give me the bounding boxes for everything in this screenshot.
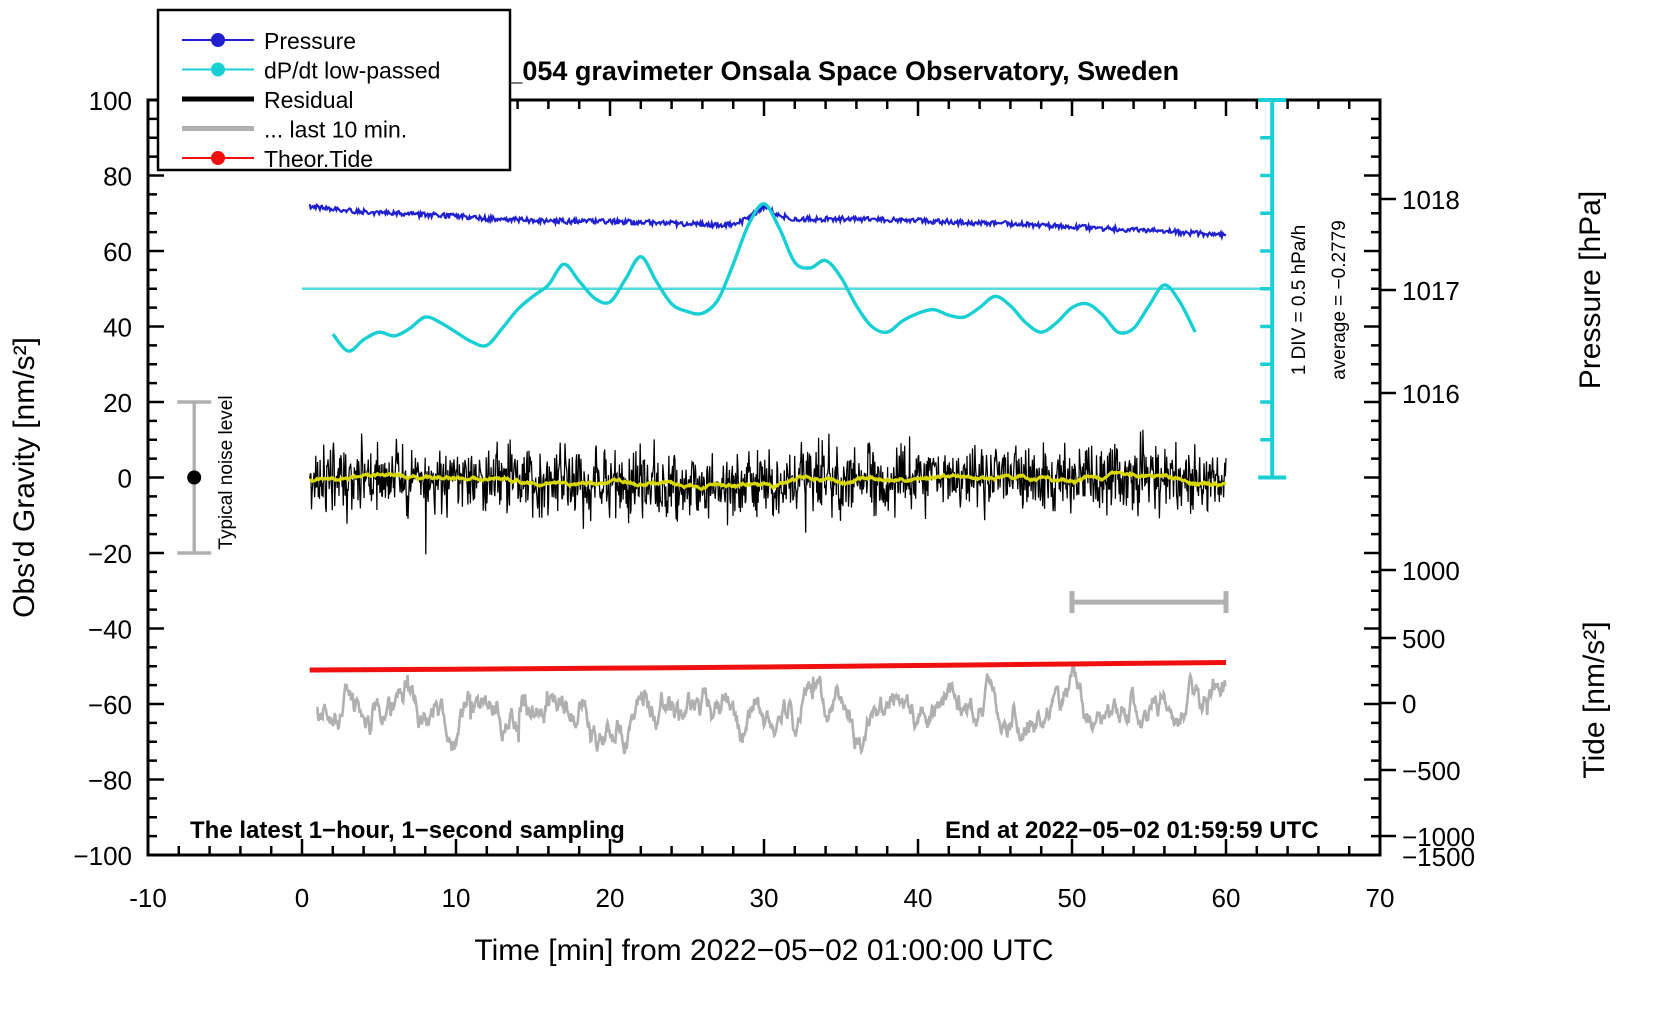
x-tick-label-6: 50 <box>1058 883 1087 913</box>
y-right-pressure-title: Pressure [hPa] <box>1574 191 1607 389</box>
legend-marker-1 <box>211 63 225 77</box>
legend-marker-0 <box>211 33 225 47</box>
y-left-tick-label-5: 0 <box>118 464 132 494</box>
x-tick-label-3: 20 <box>596 883 625 913</box>
y-right-pressure-label-0: 1018 <box>1402 185 1460 215</box>
y-right-tide-label-0: 1000 <box>1402 556 1460 586</box>
y-left-tick-label-1: 80 <box>103 162 132 192</box>
y-right-tide-label-5: −1500 <box>1402 842 1475 872</box>
x-tick-label-4: 30 <box>750 883 779 913</box>
y-left-tick-label-10: −100 <box>73 841 132 871</box>
y-right-tide-title: Tide [nm/s²] <box>1578 621 1611 778</box>
x-axis-title: Time [min] from 2022−05−02 01:00:00 UTC <box>474 934 1053 967</box>
y-left-tick-label-6: −20 <box>88 539 132 569</box>
x-tick-label-0: -10 <box>129 883 167 913</box>
typical-noise-label: Typical noise level <box>216 395 237 549</box>
y-right-pressure-label-1: 1017 <box>1402 276 1460 306</box>
legend-label-2: Residual <box>264 87 354 113</box>
y-right-pressure-label-2: 1016 <box>1402 379 1460 409</box>
noise-errorbar-point <box>187 471 201 485</box>
legend-label-1: dP/dt low-passed <box>264 58 440 84</box>
y-left-tick-label-2: 60 <box>103 237 132 267</box>
y-right-tide-label-3: −500 <box>1402 756 1461 786</box>
plot-canvas: -10010203040506070Time [min] from 2022−0… <box>0 0 1660 1020</box>
y-left-tick-label-8: −60 <box>88 690 132 720</box>
div-label: 1 DIV = 0.5 hPa/h <box>1289 225 1310 376</box>
footer-left-label: The latest 1−hour, 1−second sampling <box>190 817 625 844</box>
y-left-tick-label-4: 20 <box>103 388 132 418</box>
legend-marker-4 <box>211 151 225 165</box>
y-left-tick-label-9: −80 <box>88 766 132 796</box>
plot-title: SCG_054 gravimeter Onsala Space Observat… <box>449 56 1179 86</box>
x-tick-label-2: 10 <box>442 883 471 913</box>
y-left-tick-label-3: 40 <box>103 313 132 343</box>
x-tick-label-1: 0 <box>295 883 309 913</box>
y-left-tick-label-0: 100 <box>89 86 132 116</box>
legend-label-4: Theor.Tide <box>264 146 373 172</box>
average-label: average = −0.2779 <box>1329 220 1350 380</box>
legend-label-3: ... last 10 min. <box>264 117 407 143</box>
footer-right-label: End at 2022−05−02 01:59:59 UTC <box>945 817 1319 844</box>
x-tick-label-5: 40 <box>904 883 933 913</box>
legend-label-0: Pressure <box>264 28 356 54</box>
y-right-tide-label-1: 500 <box>1402 624 1445 654</box>
x-tick-label-7: 60 <box>1212 883 1241 913</box>
x-tick-label-8: 70 <box>1366 883 1395 913</box>
y-left-axis-title: Obs'd Gravity [nm/s²] <box>8 337 41 618</box>
y-left-tick-label-7: −40 <box>88 615 132 645</box>
y-right-tide-label-2: 0 <box>1402 689 1416 719</box>
gravimeter-plot-figure: -10010203040506070Time [min] from 2022−0… <box>0 0 1660 1020</box>
